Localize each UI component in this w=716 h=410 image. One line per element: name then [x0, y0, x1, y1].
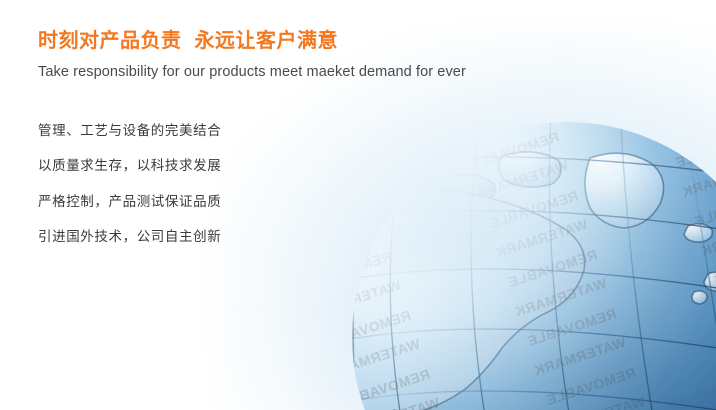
slogan-list: 管理、工艺与设备的完美结合 以质量求生存，以科技求发展 严格控制，产品测试保证品… — [0, 83, 460, 244]
page-title: 时刻对产品负责永远让客户满意 — [0, 0, 460, 54]
banner-content: 时刻对产品负责永远让客户满意 Take responsibility for o… — [0, 0, 460, 244]
headline-part-2: 永远让客户满意 — [195, 30, 339, 52]
list-item: 严格控制，产品测试保证品质 — [38, 195, 460, 209]
list-item: 引进国外技术，公司自主创新 — [38, 230, 460, 244]
headline-part-1: 时刻对产品负责 — [38, 30, 182, 52]
list-item: 管理、工艺与设备的完美结合 — [38, 124, 460, 138]
company-slogan-banner: REMOVABLE WATERMARK 时刻对产品负责永远让客户满意 Take … — [0, 0, 716, 410]
page-subtitle: Take responsibility for our products mee… — [0, 54, 460, 83]
list-item: 以质量求生存，以科技求发展 — [38, 159, 460, 173]
